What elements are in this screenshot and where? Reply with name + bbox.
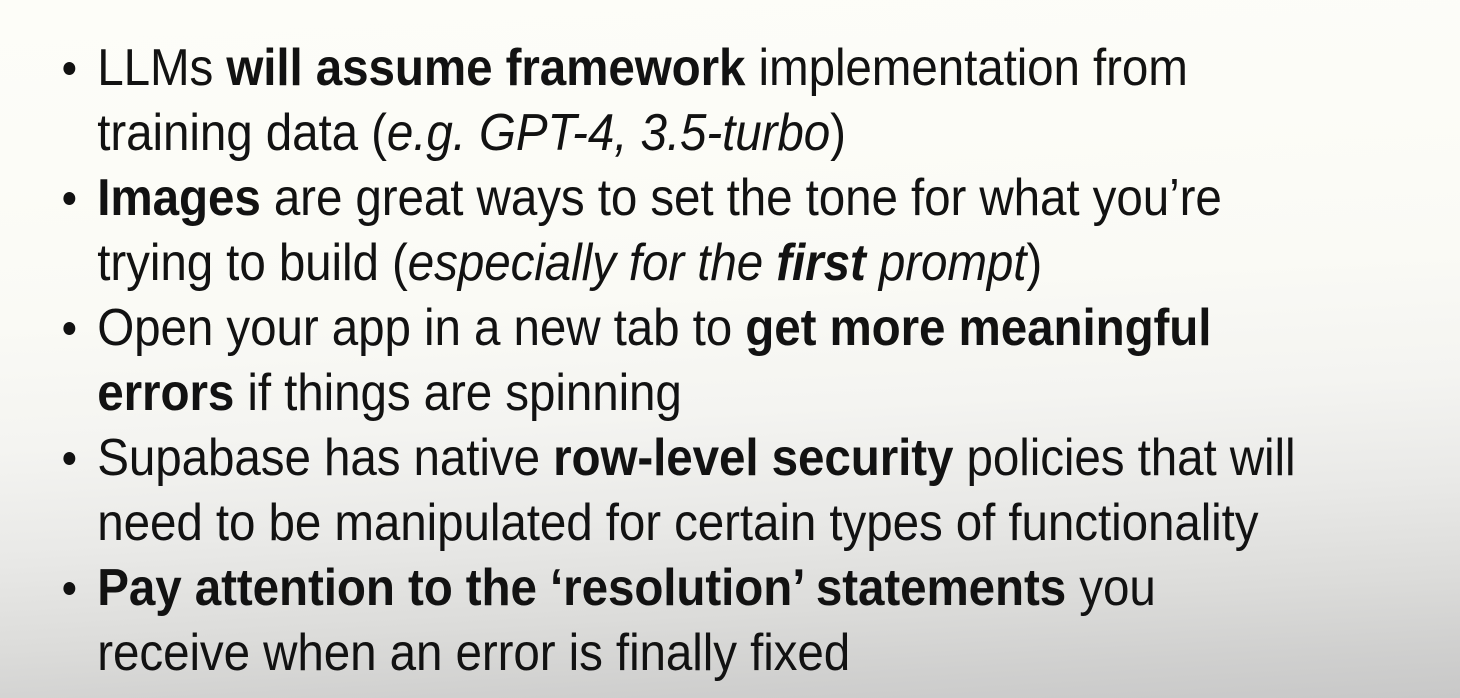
bullet-item-1: LLMs will assume framework implementatio… [57,36,1320,166]
text-run-normal: if things are spinning [234,364,682,422]
bullet-item-3: Open your app in a new tab to get more m… [57,296,1320,426]
text-run-normal: Open your app in a new tab to [97,299,745,357]
text-run-bold-italic: first [776,234,865,292]
bullet-dot-icon [63,192,75,205]
slide-canvas: LLMs will assume framework implementatio… [0,0,1460,698]
bullet-dot-icon [63,582,75,595]
bullet-dot-icon [63,322,75,335]
bullet-text: Supabase has native row-level security p… [97,426,1319,556]
text-run-normal: ) [1026,234,1042,292]
text-run-italic: e.g. GPT-4, 3.5-turbo [387,104,830,162]
bullet-dot-icon [63,62,75,75]
bullet-text: LLMs will assume framework implementatio… [97,36,1319,166]
text-run-normal: LLMs [97,39,226,97]
bullet-list: LLMs will assume framework implementatio… [57,36,1437,686]
text-run-normal: ) [830,104,846,162]
bullet-text: Pay attention to the ‘resolution’ statem… [97,556,1319,686]
bullet-text: Images are great ways to set the tone fo… [97,166,1319,296]
text-run-italic: especially for the [408,234,777,292]
bullet-item-2: Images are great ways to set the tone fo… [57,166,1320,296]
text-run-bold: Pay attention to the ‘resolution’ statem… [97,559,1066,617]
bullet-dot-icon [63,452,75,465]
text-run-bold: row-level security [553,429,953,487]
text-run-normal: Supabase has native [97,429,553,487]
bullet-text: Open your app in a new tab to get more m… [97,296,1319,426]
text-run-italic: prompt [866,234,1027,292]
text-run-bold: will assume framework [226,39,745,97]
bullet-item-4: Supabase has native row-level security p… [57,426,1320,556]
text-run-bold: Images [97,169,260,227]
bullet-item-5: Pay attention to the ‘resolution’ statem… [57,556,1320,686]
